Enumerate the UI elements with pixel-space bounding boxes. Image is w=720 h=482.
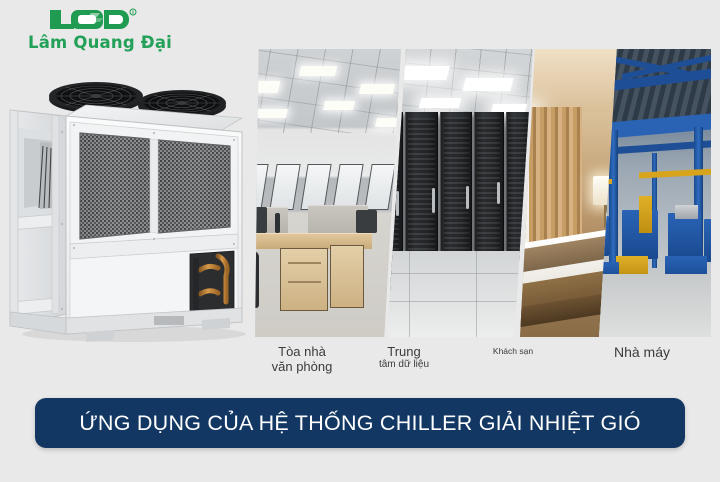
brand-name: Lâm Quang Đại (28, 33, 158, 53)
caption-line-1: Tòa nhà (256, 344, 348, 359)
caption-line-1: Nhà máy (596, 344, 688, 361)
caption-line-1: Trung (356, 344, 452, 359)
photo-factory (599, 49, 711, 337)
photo-office-building (255, 49, 401, 337)
application-photo-collage (255, 49, 705, 337)
caption-line-2: tâm dữ liệu (356, 359, 452, 371)
caption-office-building: Tòa nhà văn phòng (256, 344, 348, 375)
photo-data-center (387, 49, 533, 337)
chiller-product-image (4, 72, 254, 344)
caption-data-center: Trung tâm dữ liệu (356, 344, 452, 371)
caption-line-2: văn phòng (256, 359, 348, 374)
svg-text:R: R (132, 10, 135, 15)
infographic-canvas: R Lâm Quang Đại (0, 0, 720, 482)
lqd-monogram-icon: R (47, 8, 139, 32)
banner-title: ỨNG DỤNG CỦA HỆ THỐNG CHILLER GIẢI NHIỆT… (79, 411, 640, 436)
title-banner: ỨNG DỤNG CỦA HỆ THỐNG CHILLER GIẢI NHIỆT… (35, 398, 685, 448)
caption-line-1: Khách sạn (470, 346, 556, 356)
caption-hotel: Khách sạn (470, 346, 556, 356)
caption-factory: Nhà máy (596, 344, 688, 361)
brand-logo: R Lâm Quang Đại (28, 6, 158, 58)
